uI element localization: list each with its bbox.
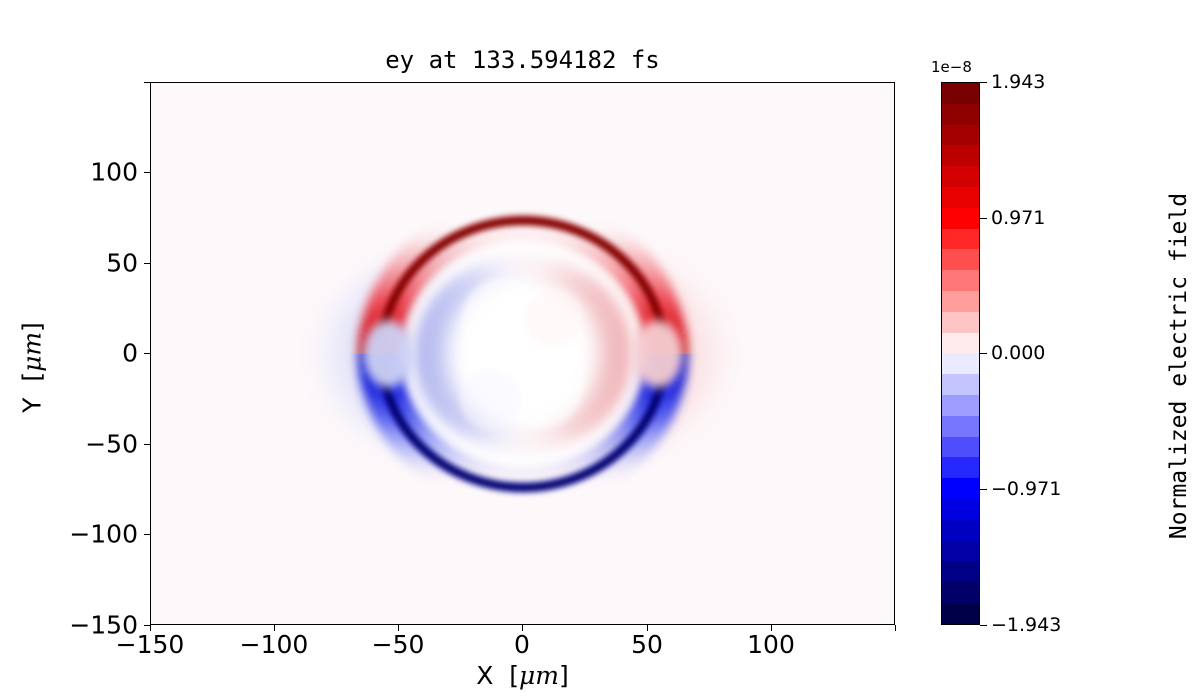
x-axis-label-suffix: ] [559,661,569,690]
colorbar-band [942,520,979,541]
colorbar-band [942,187,979,208]
y-tick-mark [144,172,150,173]
colorbar-band [942,104,979,125]
x-tick-label: −50 [372,630,425,659]
y-tick-label: 50 [106,249,138,278]
y-tick-mark [144,353,150,354]
matplotlib-figure: ey at 133.594182 fs [0,0,1200,700]
y-tick-mark [144,625,150,626]
y-tick-mark [144,82,150,83]
y-tick-label: −150 [69,611,138,640]
colorbar [941,82,980,625]
x-tick-mark [895,625,896,631]
y-tick-mark [144,534,150,535]
colorbar-band [942,333,979,354]
colorbar-band [942,561,979,582]
colorbar-tick-label: −1.943 [991,614,1061,636]
colorbar-band [942,83,979,104]
x-axis-label: X [μm] [150,661,895,690]
colorbar-band [942,499,979,520]
colorbar-tick-label: −0.971 [991,478,1061,500]
colorbar-offset-text: 1e−8 [931,58,972,76]
y-tick-mark [144,263,150,264]
colorbar-band [942,249,979,270]
colorbar-band [942,437,979,458]
y-axis-label-prefix: Y [ [18,372,47,413]
colorbar-band [942,353,979,374]
colorbar-band [942,457,979,478]
colorbar-band [942,478,979,499]
colorbar-band [942,166,979,187]
colorbar-band [942,208,979,229]
colorbar-tick-mark [980,353,987,354]
plot-axes [150,82,895,625]
colorbar-band [942,416,979,437]
colorbar-tick-mark [980,218,987,219]
plot-title: ey at 133.594182 fs [150,46,895,74]
colorbar-band [942,312,979,333]
colorbar-band [942,291,979,312]
colorbar-band [942,270,979,291]
colorbar-tick-mark [980,489,987,490]
colorbar-band [942,541,979,562]
colorbar-tick-mark [980,625,987,626]
x-tick-label: −100 [240,630,309,659]
colorbar-band [942,125,979,146]
colorbar-band [942,229,979,250]
y-axis-label-suffix: ] [18,322,47,332]
colorbar-band [942,145,979,166]
x-axis-label-prefix: X [ [476,661,519,690]
y-tick-label: −100 [69,520,138,549]
colorbar-tick-label: 0.971 [991,207,1045,229]
colorbar-tick-label: 1.943 [991,71,1045,93]
electric-field-heatmap [151,83,894,624]
y-axis-label: Y [μm] [18,268,47,468]
colorbar-band [942,582,979,603]
y-tick-label: −50 [85,430,138,459]
y-axis-label-unit: μm [18,332,47,372]
colorbar-band [942,395,979,416]
y-tick-label: 0 [122,339,138,368]
colorbar-tick-label: 0.000 [991,342,1045,364]
x-tick-label: 50 [631,630,663,659]
x-tick-label: 100 [747,630,795,659]
colorbar-label: Normalized electric field [1166,156,1192,576]
colorbar-band [942,603,979,624]
y-tick-label: 100 [90,158,138,187]
x-axis-label-unit: μm [519,661,559,690]
y-tick-mark [144,444,150,445]
colorbar-band [942,374,979,395]
colorbar-tick-mark [980,82,987,83]
x-tick-label: 0 [514,630,530,659]
